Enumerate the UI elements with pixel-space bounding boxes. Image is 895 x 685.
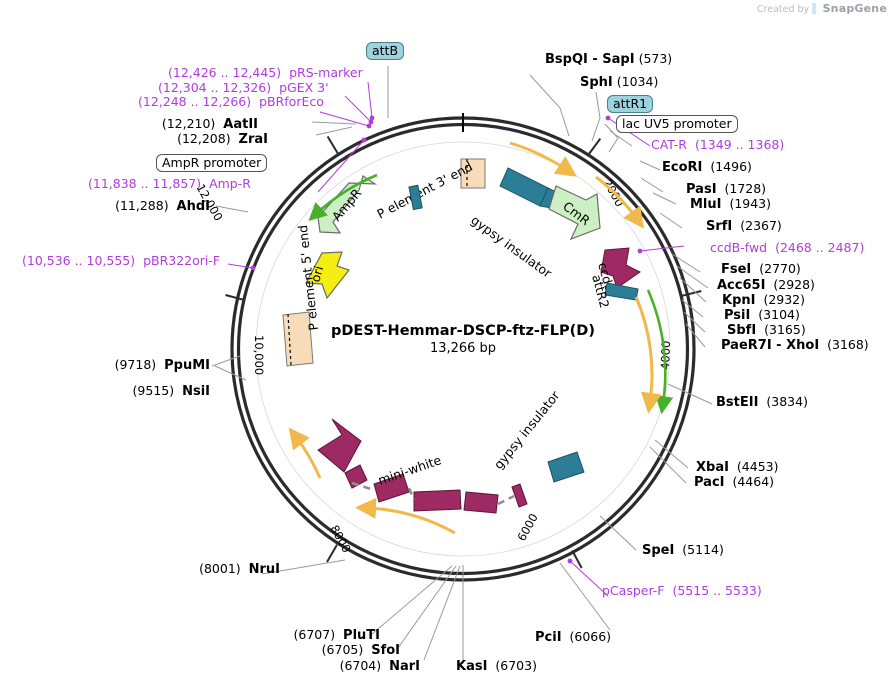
primer-pcasper-f: pCasper-F (5515 .. 5533) xyxy=(602,585,762,598)
site-position: (2932) xyxy=(763,292,805,307)
site-name: SrfI xyxy=(706,219,732,234)
site-name: PaeR7I - XhoI xyxy=(721,338,819,353)
site-position: (1496) xyxy=(710,159,752,174)
primer-name: pBRforEco xyxy=(259,94,324,109)
feature-label-gypsy-insulator-bottom: gypsy insulator xyxy=(491,387,563,472)
site-name: SbfI xyxy=(727,323,756,338)
feature-box-attr1: attR1 xyxy=(607,95,653,113)
tick-label-10000: 10,000 xyxy=(252,335,266,375)
primer-range: (5515 .. 5533) xyxy=(672,583,761,598)
feature-label-p-element-3-end: P element 3' end xyxy=(374,159,475,222)
site-name: PpuMI xyxy=(164,358,210,373)
site-position: (4464) xyxy=(732,474,774,489)
site-position: (6704) xyxy=(340,658,382,673)
site-position: (6707) xyxy=(294,627,336,642)
site-mlui: MluI (1943) xyxy=(690,198,771,211)
site-position: (2928) xyxy=(773,277,815,292)
site-position: (8001) xyxy=(199,561,241,576)
site-name: XbaI xyxy=(696,460,729,475)
primer-ccdb-fwd: ccdB-fwd (2468 .. 2487) xyxy=(710,242,864,255)
primer-name: pRS-marker xyxy=(289,65,363,80)
site-name: PsiI xyxy=(724,308,750,323)
primer-name: pGEX 3' xyxy=(279,80,328,95)
site-position: (573) xyxy=(639,51,673,66)
site-name: KpnI xyxy=(722,293,755,308)
site-ecori: EcoRI (1496) xyxy=(662,161,752,174)
primer-range: (1349 .. 1368) xyxy=(695,137,784,152)
feature-arc-bottom-left-a xyxy=(296,437,320,478)
site-name: NarI xyxy=(389,659,420,674)
site-acc65i: Acc65I (2928) xyxy=(717,279,815,292)
primer-cat-r: CAT-R (1349 .. 1368) xyxy=(651,139,784,152)
primer-range: (2468 .. 2487) xyxy=(775,240,864,255)
site-kasi: KasI (6703) xyxy=(456,660,537,673)
site-bspqi-sapi: BspQI - SapI (573) xyxy=(545,53,672,66)
site-position: (4453) xyxy=(737,459,779,474)
site-name: BspQI - SapI xyxy=(545,52,635,67)
site-position: (6066) xyxy=(569,629,611,644)
site-psii: PsiI (3104) xyxy=(724,309,800,322)
site-sfoi: (6705) SfoI xyxy=(250,644,400,657)
primer-range: (12,426 .. 12,445) xyxy=(168,65,281,80)
site-position: (3104) xyxy=(758,307,800,322)
site-position: (12,210) xyxy=(162,116,216,131)
site-name: NruI xyxy=(249,562,280,577)
site-nari: (6704) NarI xyxy=(270,660,420,673)
primer-range: (12,304 .. 12,326) xyxy=(158,80,271,95)
primer-amp-r: (11,838 .. 11,857) Amp-R xyxy=(88,178,251,191)
site-name: PasI xyxy=(686,182,717,197)
primer-name: ccdB-fwd xyxy=(710,240,767,255)
site-position: (1034) xyxy=(617,74,659,89)
primer-pbr322ori-f: (10,536 .. 10,555) pBR322ori-F xyxy=(22,255,220,268)
site-name: AhdI xyxy=(177,199,210,214)
site-bstell: BstEII (3834) xyxy=(716,396,808,409)
site-pluti: (6707) PluTI xyxy=(230,629,380,642)
site-position: (3165) xyxy=(764,322,806,337)
site-spei: SpeI (5114) xyxy=(642,544,724,557)
site-name: SfoI xyxy=(371,643,400,658)
site-name: MluI xyxy=(690,197,721,212)
site-paer7i-xhoi: PaeR7I - XhoI (3168) xyxy=(721,339,869,352)
feature-gypsy-insulator-top xyxy=(500,168,556,208)
site-ppumi: (9718) PpuMI xyxy=(60,359,210,372)
feature-label-gypsy-insulator-top: gypsy insulator xyxy=(468,212,555,281)
site-position: (6705) xyxy=(322,642,364,657)
site-sbfi: SbfI (3165) xyxy=(727,324,806,337)
primer-name: pCasper-F xyxy=(602,583,665,598)
primer-range: (11,838 .. 11,857) xyxy=(88,176,201,191)
site-name: NsiI xyxy=(182,384,210,399)
site-fsei: FseI (2770) xyxy=(721,263,801,276)
feature-box-ampr-promoter: AmpR promoter xyxy=(156,154,267,172)
site-position: (3168) xyxy=(827,337,869,352)
feature-box-attb: attB xyxy=(366,42,404,60)
site-nrui: (8001) NruI xyxy=(130,563,280,576)
site-sphi: SphI (1034) xyxy=(580,76,658,89)
tick-label-6000: 6000 xyxy=(514,511,540,543)
primer-name: CAT-R xyxy=(651,137,687,152)
site-name: KasI xyxy=(456,659,487,674)
site-name: SpeI xyxy=(642,543,674,558)
primer-pgex-3: (12,304 .. 12,326) pGEX 3' xyxy=(158,82,329,95)
site-pasi: PasI (1728) xyxy=(686,183,766,196)
site-srfi: SrfI (2367) xyxy=(706,220,782,233)
site-position: (12,208) xyxy=(177,131,231,146)
site-position: (2367) xyxy=(740,218,782,233)
site-name: Acc65I xyxy=(717,278,765,293)
site-name: FseI xyxy=(721,262,751,277)
site-kpni: KpnI (2932) xyxy=(722,294,805,307)
site-ahdi: (11,288) AhdI xyxy=(70,200,210,213)
primer-name: pBR322ori-F xyxy=(143,253,220,268)
page-title: pDEST-Hemmar-DSCP-ftz-FLP(D) xyxy=(303,323,623,339)
site-position: (1728) xyxy=(724,181,766,196)
site-name: BstEII xyxy=(716,395,758,410)
site-name: PciI xyxy=(535,630,562,645)
site-nsii: (9515) NsiI xyxy=(70,385,210,398)
plasmid-size: 13,266 bp xyxy=(303,341,623,356)
site-name: ZraI xyxy=(239,132,268,147)
site-aatii: (12,210) AatII xyxy=(108,118,258,131)
site-position: (5114) xyxy=(682,542,724,557)
site-position: (11,288) xyxy=(115,198,169,213)
site-position: (9718) xyxy=(115,357,157,372)
feature-gypsy-insulator-bottom xyxy=(512,452,584,507)
site-pcii: PciI (6066) xyxy=(535,631,611,644)
site-position: (1943) xyxy=(729,196,771,211)
site-name: PacI xyxy=(694,475,725,490)
site-position: (6703) xyxy=(495,658,537,673)
site-paci: PacI (4464) xyxy=(694,476,774,489)
primer-prs-marker: (12,426 .. 12,445) pRS-marker xyxy=(168,67,363,80)
site-position: (2770) xyxy=(759,261,801,276)
plasmid-map-canvas: Created by ▌ SnapGene xyxy=(0,0,895,685)
primer-range: (12,248 .. 12,266) xyxy=(138,94,251,109)
site-name: SphI xyxy=(580,75,613,90)
feature-box-lac-uv5-promoter: lac UV5 promoter xyxy=(616,115,738,133)
feature-arc-bottom-left-b xyxy=(367,508,455,533)
site-name: AatII xyxy=(223,117,258,132)
site-xbai: XbaI (4453) xyxy=(696,461,778,474)
site-name: PluTI xyxy=(343,628,380,643)
site-position: (9515) xyxy=(133,383,175,398)
site-zrai: (12,208) ZraI xyxy=(118,133,268,146)
primer-range: (10,536 .. 10,555) xyxy=(22,253,135,268)
site-position: (3834) xyxy=(766,394,808,409)
primer-name: Amp-R xyxy=(209,176,251,191)
site-name: EcoRI xyxy=(662,160,702,175)
primer-pbrforeco: (12,248 .. 12,266) pBRforEco xyxy=(138,96,324,109)
feature-label-mini-white: mini-white xyxy=(376,452,443,488)
